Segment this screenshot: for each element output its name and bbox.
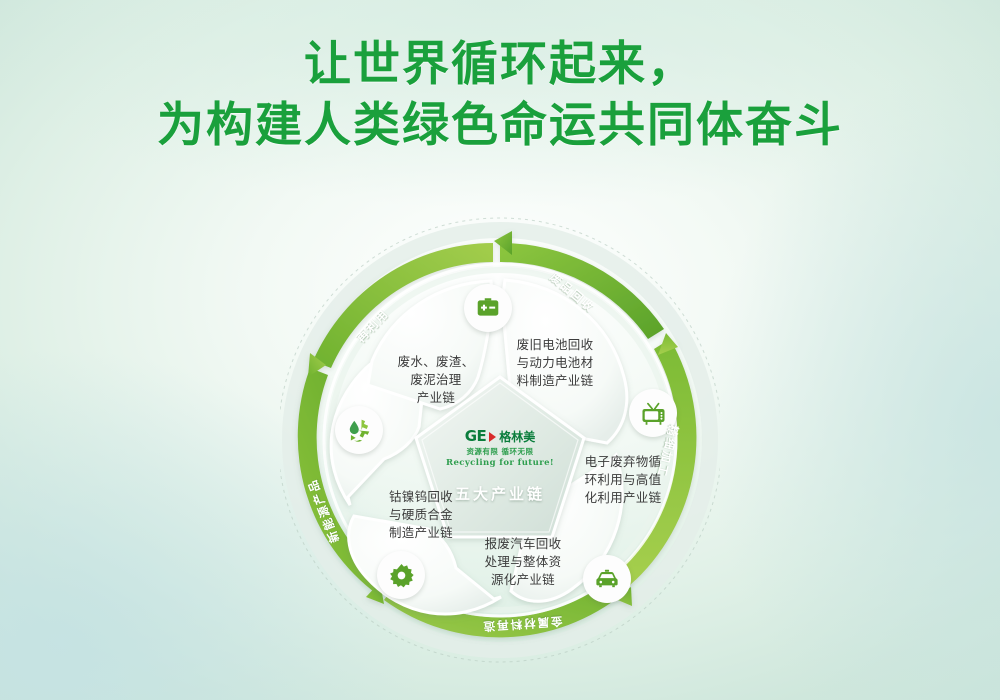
chain-battery-label: 废旧电池回收 与动力电池材 料制造产业链 [502,336,608,390]
chain-vehicle-label: 报废汽车回收 处理与整体资 源化产业链 [470,535,576,589]
chain-vehicle-icon-bubble[interactable] [583,555,631,603]
water-recycle-icon [344,415,374,445]
gem-slogan-cn: 资源有限 循环无限 [440,446,560,457]
red-triangle-m-icon [489,432,496,442]
chain-cobalt-icon-bubble[interactable] [377,551,425,599]
page-title-line-2: 为构建人类绿色命运共同体奋斗 [0,95,1000,156]
gem-logo-chinese: 格林美 [499,428,535,445]
gem-slogan-en: Recycling for future! [440,458,560,468]
car-icon [593,565,621,593]
page-title-line-1: 让世界循环起来， [0,34,1000,95]
chain-battery-icon-bubble[interactable] [464,284,512,332]
television-icon [640,400,667,427]
center-caption: 五大产业链 [440,483,560,504]
chain-wastewater-icon-bubble[interactable] [335,406,383,454]
gear-icon [388,562,415,589]
gem-logo-row: GE 格林美 [440,427,560,445]
chain-wastewater-label: 废水、废渣、 废泥治理 产业链 [384,353,488,407]
circular-economy-diagram: 废旧电池回收 与动力电池材 料制造产业链 电子废弃物循 环利用与高值 化利用产业… [280,205,720,675]
gem-logo: GE 格林美 资源有限 循环无限 Recycling for future! [440,427,560,468]
page-title: 让世界循环起来， 为构建人类绿色命运共同体奋斗 [0,34,1000,156]
gem-logo-latin: GE [465,427,487,445]
battery-icon [475,295,501,321]
